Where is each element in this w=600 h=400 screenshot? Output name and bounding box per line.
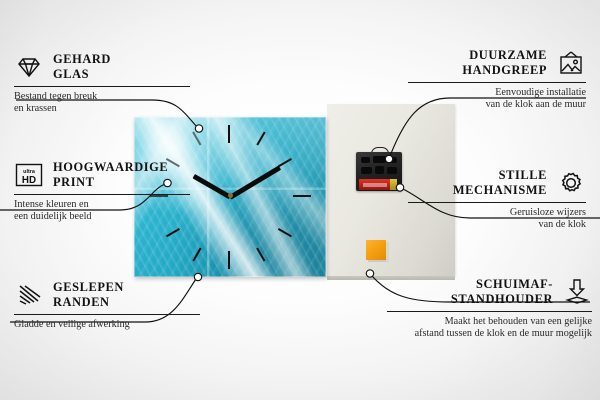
clock-hub [228, 193, 233, 198]
feature-subtitle: Geruisloze wijzers van de klok [408, 207, 586, 232]
divider [14, 194, 190, 195]
infographic-canvas: GEHARD GLAS Bestand tegen breuk en krass… [0, 0, 600, 400]
divider [14, 86, 190, 87]
hanging-picture-icon [556, 48, 586, 78]
feature-title: STILLE MECHANISME [453, 168, 547, 197]
gear-icon [556, 168, 586, 198]
mechanism-housing [356, 152, 402, 191]
feature-geslepen-randen[interactable]: GESLEPEN RANDEN Gladde en veilige afwerk… [14, 280, 200, 331]
feature-title: DUURZAME HANDGREEP [462, 48, 547, 77]
feature-duurzame-handgreep[interactable]: DUURZAME HANDGREEP Eenvoudige installati… [408, 48, 586, 112]
divider [408, 202, 586, 203]
diagonal-lines-icon [14, 280, 44, 310]
feature-title: GEHARD GLAS [53, 52, 111, 81]
ultra-hd-icon: ultra HD [14, 160, 44, 190]
svg-text:HD: HD [22, 175, 36, 186]
feature-title: SCHUIMAF- STANDHOUDER [451, 277, 553, 306]
divider [387, 311, 592, 312]
feature-subtitle: Intense kleuren en een duidelijk beeld [14, 199, 190, 224]
feature-title: GESLEPEN RANDEN [53, 280, 124, 309]
feature-subtitle: Maakt het behouden van een gelijke afsta… [387, 316, 592, 341]
feature-gehard-glas[interactable]: GEHARD GLAS Bestand tegen breuk en krass… [14, 52, 190, 116]
aa-battery [359, 179, 397, 190]
foam-spacer-pad [366, 240, 386, 260]
feature-subtitle: Gladde en veilige afwerking [14, 319, 200, 331]
divider [14, 314, 200, 315]
clock-mechanism [356, 147, 402, 191]
feature-schuimaf-standhouder[interactable]: SCHUIMAF- STANDHOUDER Maakt het behouden… [387, 277, 592, 341]
down-arrow-on-layers-icon [562, 277, 592, 307]
feature-subtitle: Eenvoudige installatie van de klok aan d… [408, 87, 586, 112]
feature-hoogwaardige-print[interactable]: ultra HD HOOGWAARDIGE PRINT Intense kleu… [14, 160, 190, 224]
hour-hand [192, 174, 231, 199]
diamond-icon [14, 52, 44, 82]
feature-stille-mechanisme[interactable]: STILLE MECHANISME Geruisloze wijzers van… [408, 168, 586, 232]
divider [408, 82, 586, 83]
minute-hand [229, 165, 281, 199]
feature-title: HOOGWAARDIGE PRINT [53, 160, 168, 189]
feature-subtitle: Bestand tegen breuk en krassen [14, 91, 190, 116]
